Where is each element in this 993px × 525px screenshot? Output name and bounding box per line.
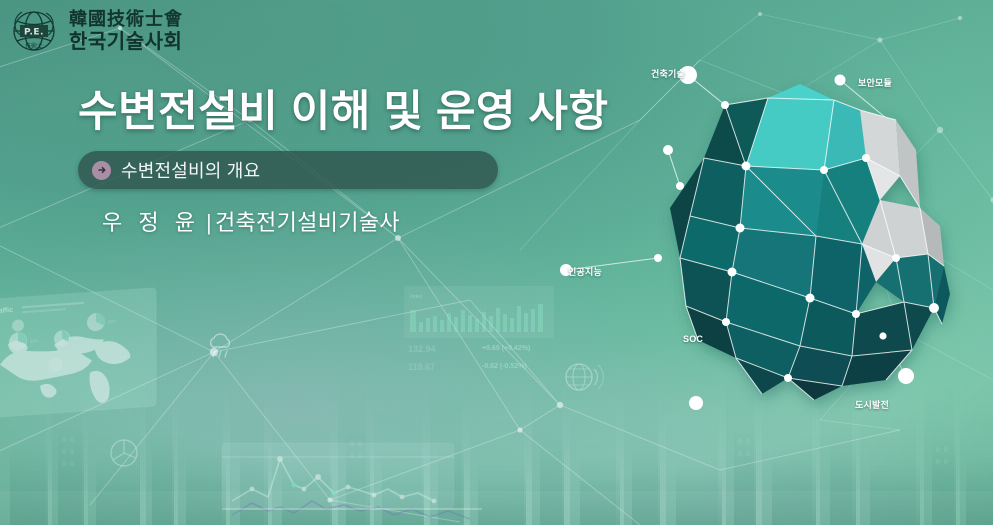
svg-text:技術士: 技術士: [25, 42, 43, 50]
author-name: 우 정 윤: [102, 210, 200, 235]
node-label-soc: SOC: [683, 334, 703, 344]
svg-text:14%: 14%: [74, 335, 82, 341]
node-label-security-module: 보안모듈: [858, 76, 892, 89]
page-title: 수변전설비 이해 및 운영 사항: [78, 88, 698, 137]
headline-block: 수변전설비 이해 및 운영 사항 수변전설비의 개요 우 정 윤|건축전기설비기…: [78, 88, 698, 237]
svg-text:132.94: 132.94: [408, 344, 436, 354]
node-label-architecture-tech: 건축기술: [651, 67, 685, 80]
svg-text:Index: Index: [410, 294, 423, 300]
bar-chart-stats-panel: Index: [404, 286, 554, 386]
svg-text:119.67: 119.67: [408, 362, 435, 372]
topic-pill-label: 수변전설비의 개요: [121, 157, 260, 183]
organization-logo: P.E. 技術士 韓國技術士會 한국기술사회: [8, 6, 183, 56]
svg-text:32%: 32%: [108, 319, 116, 325]
globe-signal-icon: [561, 356, 603, 398]
svg-text:P.E.: P.E.: [24, 28, 44, 38]
author-byline: 우 정 윤|건축전기설비기술사: [102, 205, 698, 237]
pe-globe-emblem-icon: P.E. 技術士: [8, 6, 60, 56]
logo-hanja-name: 韓國技術士會: [69, 11, 183, 29]
node-label-city-development: 도시발전: [855, 398, 889, 411]
circle-arrow-right-icon: [92, 161, 111, 180]
svg-text:-0.62 (-0.52%): -0.62 (-0.52%): [482, 363, 527, 370]
pie-chart-icon: [107, 436, 141, 470]
author-credential: 건축전기설비기술사: [215, 210, 400, 235]
world-map-dashboard-panel: Traffic: [0, 288, 164, 433]
topic-pill[interactable]: 수변전설비의 개요: [78, 151, 498, 189]
svg-text:+0.69 (+0.42%): +0.69 (+0.42%): [482, 345, 530, 352]
logo-korean-name: 한국기술사회: [69, 32, 183, 52]
svg-text:21%: 21%: [30, 338, 38, 344]
presentation-slide: Traffic: [0, 0, 993, 525]
byline-separator: |: [200, 210, 215, 235]
cloud-rain-icon: [205, 332, 239, 360]
node-label-ai: 인공지능: [568, 265, 602, 278]
line-chart-panel: [222, 437, 482, 525]
